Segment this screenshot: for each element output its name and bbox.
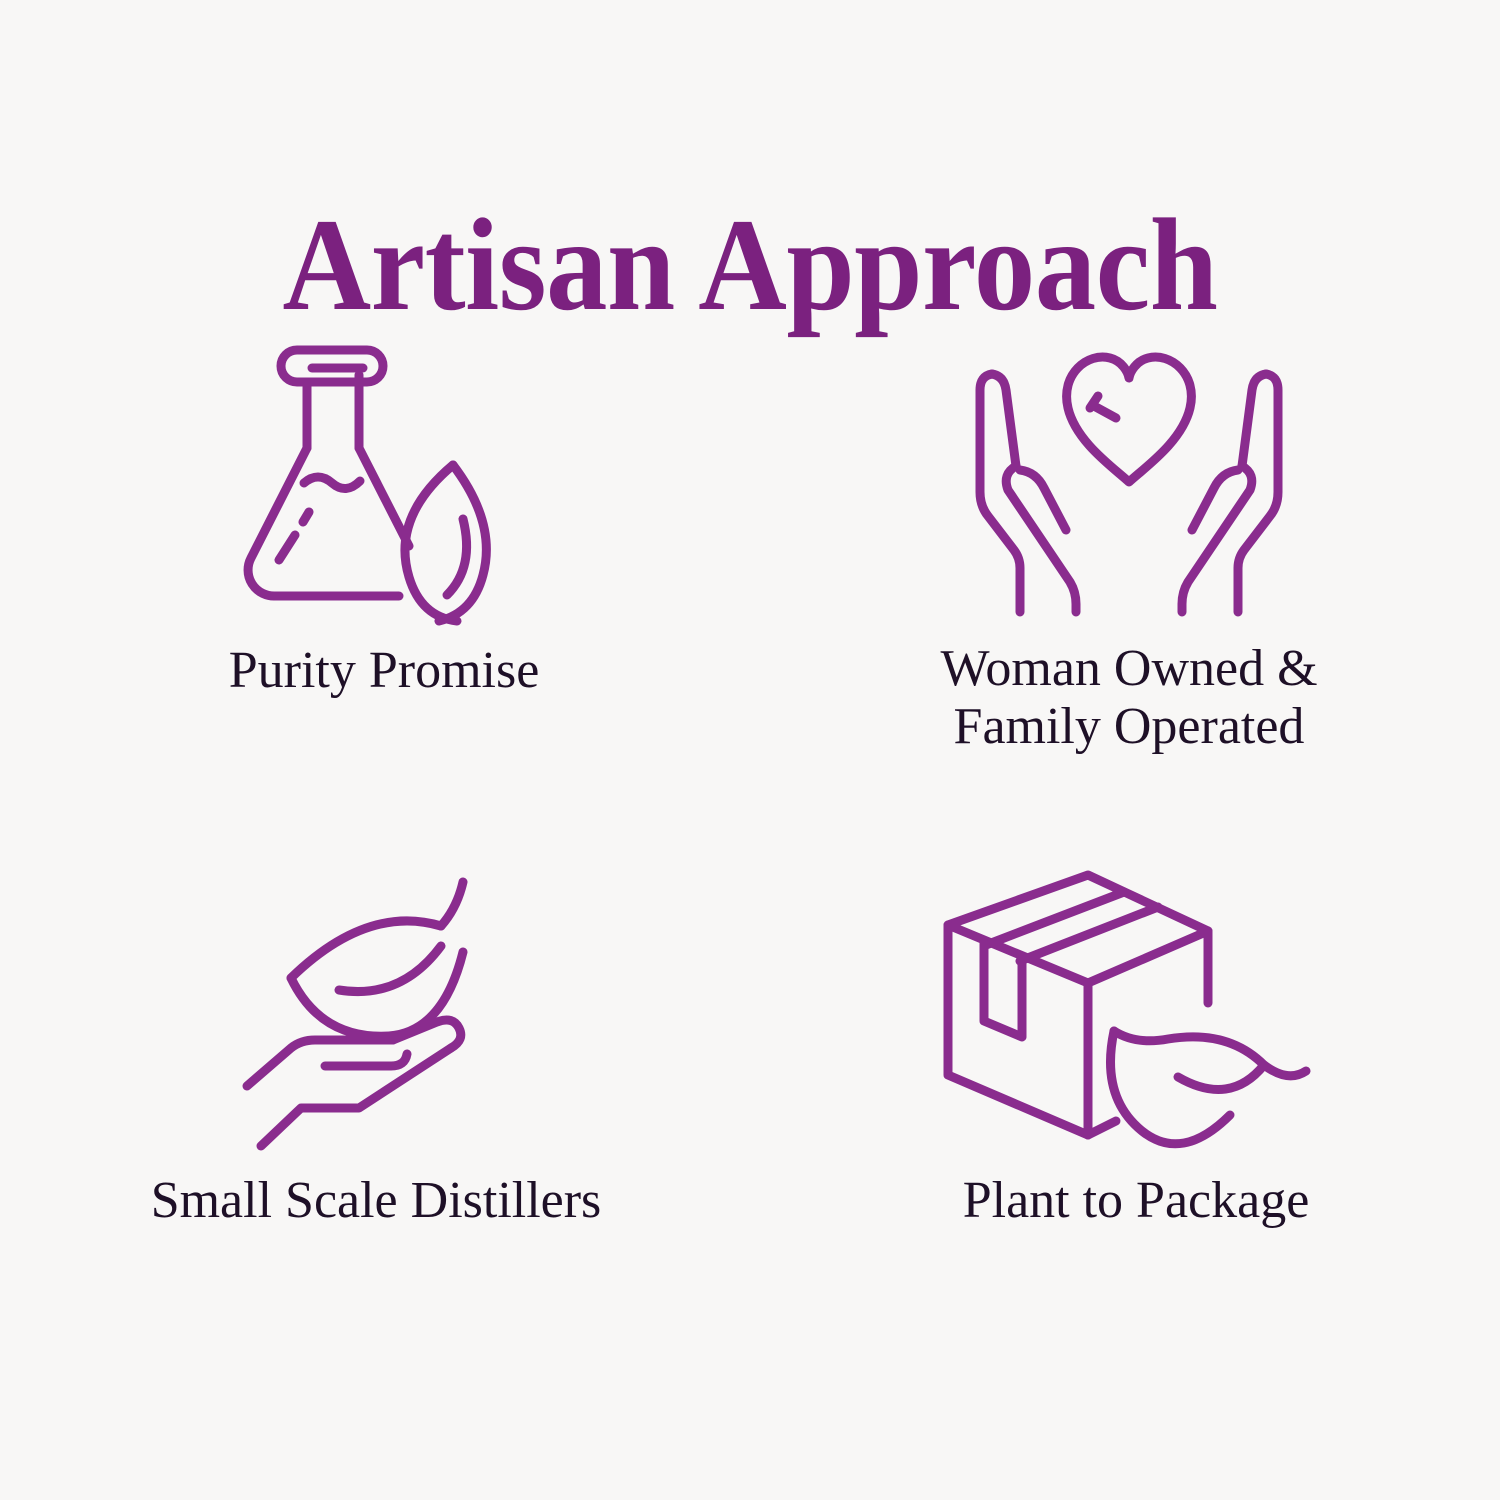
feature-label-woman-owned: Woman Owned & Family Operated [940,640,1317,756]
flask-leaf-icon [239,330,529,630]
feature-card-plant-to-package: Plant to Package [750,860,1500,1390]
feature-card-woman-owned: Woman Owned & Family Operated [750,330,1500,860]
page-title: Artisan Approach [53,196,1448,335]
feature-label-small-scale-distillers: Small Scale Distillers [151,1172,602,1230]
feature-label-plant-to-package: Plant to Package [963,1172,1310,1230]
feature-grid: Purity Promise [0,330,1500,1390]
feature-label-purity-promise: Purity Promise [229,642,540,700]
box-leaf-icon [936,860,1336,1160]
hands-heart-icon [964,330,1294,630]
leaf-in-hand-icon [241,860,511,1160]
feature-card-small-scale-distillers: Small Scale Distillers [0,860,750,1390]
artisan-approach-panel: Artisan Approach [0,0,1500,1500]
feature-card-purity-promise: Purity Promise [0,330,750,860]
